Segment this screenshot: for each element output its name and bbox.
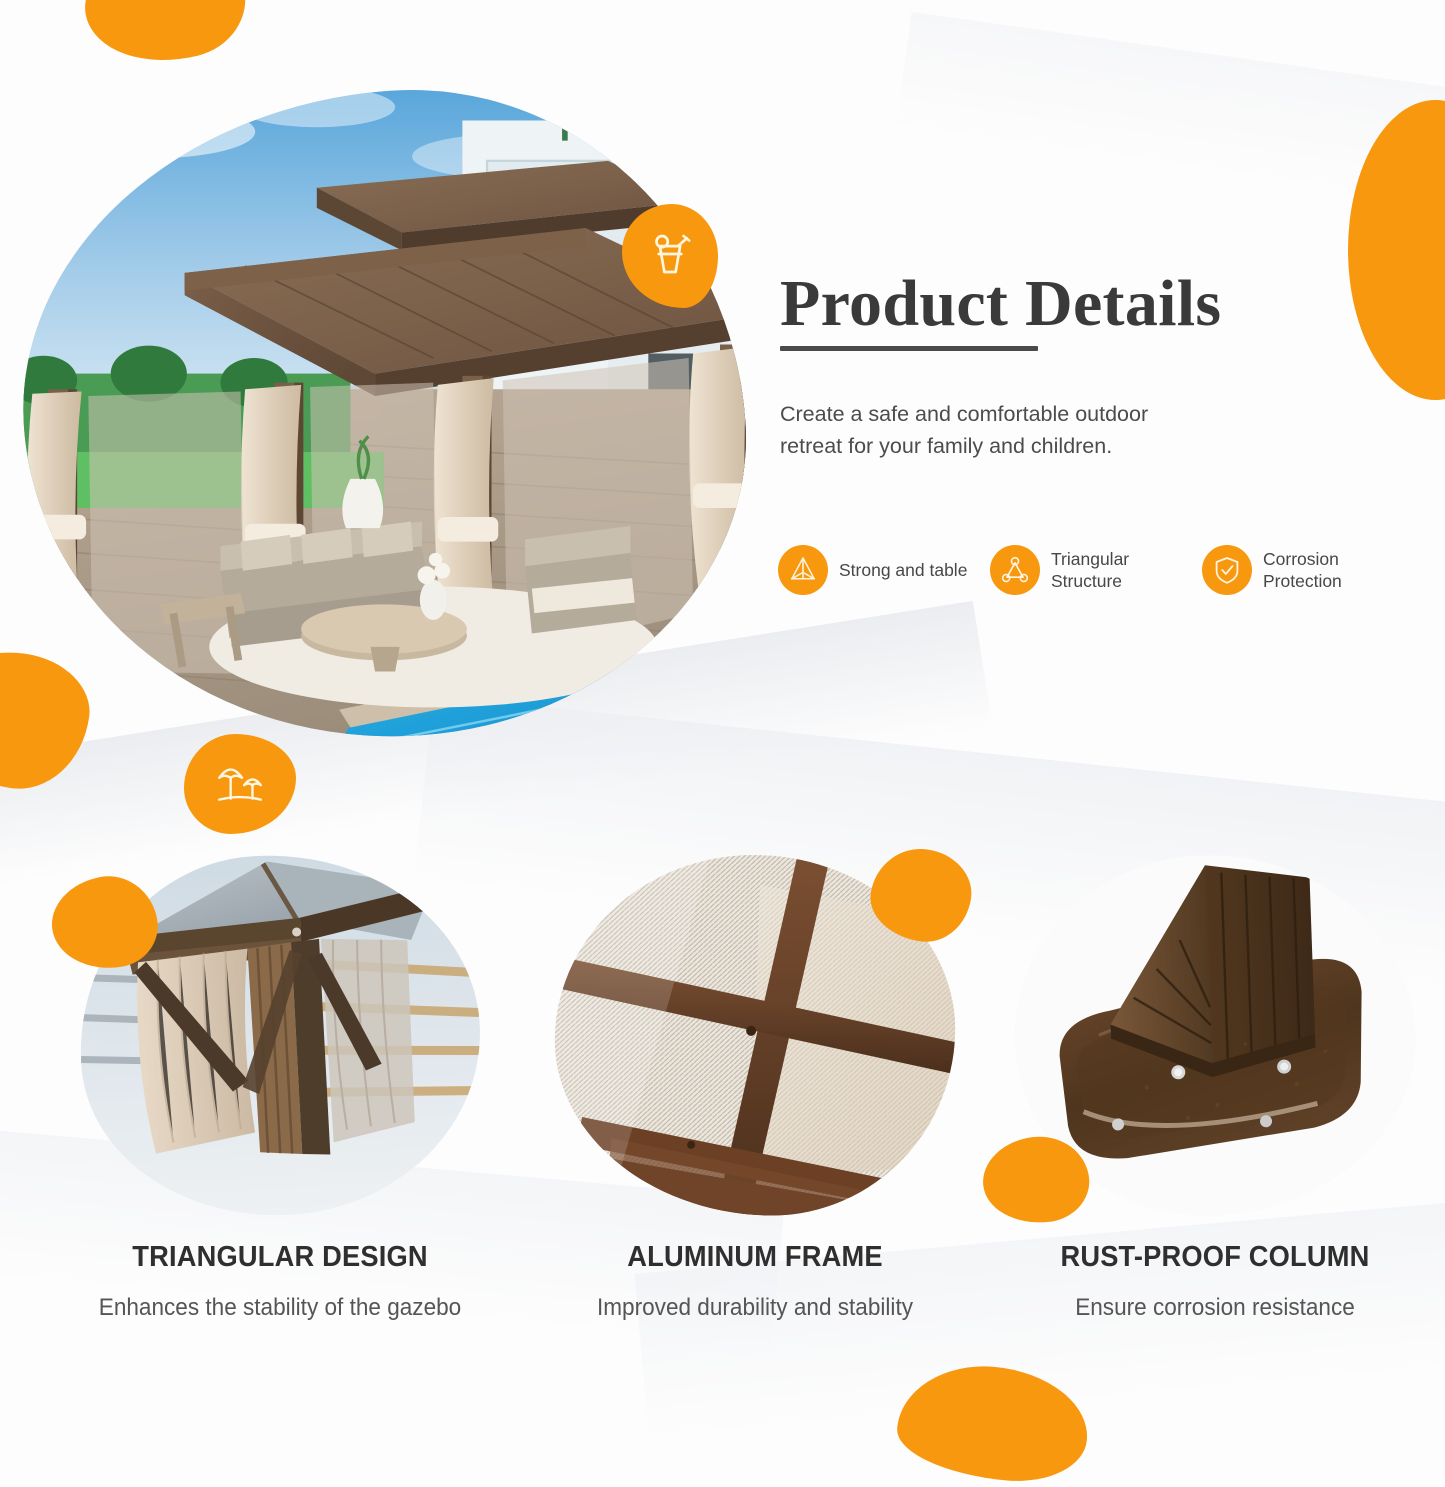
page-title: Product Details <box>780 270 1400 337</box>
title-underline <box>780 346 1038 351</box>
card-image-container <box>80 855 480 1215</box>
beach-umbrella-icon <box>213 755 267 814</box>
feature-item-strong: Strong and table <box>778 545 990 595</box>
feature-list: Strong and table Triangular Structure Co… <box>778 545 1418 595</box>
shield-check-icon <box>1202 545 1252 595</box>
feature-item-corrosion: Corrosion Protection <box>1202 545 1414 595</box>
card-image-container <box>555 855 955 1215</box>
card-description: Ensure corrosion resistance <box>999 1291 1431 1325</box>
triangle-nodes-icon <box>990 545 1040 595</box>
detail-card-triangular: TRIANGULAR DESIGN Enhances the stability… <box>50 855 510 1325</box>
corner-blob-top-left <box>73 0 257 80</box>
card-title: ALUMINUM FRAME <box>539 1241 971 1274</box>
hero-image-container <box>24 92 744 737</box>
feature-item-triangular: Triangular Structure <box>990 545 1202 595</box>
feature-label: Corrosion Protection <box>1263 548 1414 592</box>
feature-label: Strong and table <box>839 559 967 581</box>
umbrella-badge <box>184 734 296 834</box>
card-description: Improved durability and stability <box>539 1291 971 1325</box>
card-title: TRIANGULAR DESIGN <box>64 1241 496 1274</box>
detail-card-rustproof: RUST-PROOF COLUMN Ensure corrosion resis… <box>985 855 1445 1325</box>
card-title: RUST-PROOF COLUMN <box>999 1241 1431 1274</box>
pyramid-icon <box>778 545 828 595</box>
feature-label: Triangular Structure <box>1051 548 1202 592</box>
detail-card-aluminum: ALUMINUM FRAME Improved durability and s… <box>525 855 985 1325</box>
card-image-container <box>1015 855 1415 1215</box>
cocktail-drink-icon <box>643 227 697 286</box>
card-description: Enhances the stability of the gazebo <box>64 1291 496 1325</box>
heading-block: Product Details Create a safe and comfor… <box>780 270 1400 463</box>
hero-photo <box>2 68 765 762</box>
detail-cards: TRIANGULAR DESIGN Enhances the stability… <box>0 855 1445 1415</box>
page-subtitle: Create a safe and comfortable outdoor re… <box>780 399 1210 463</box>
